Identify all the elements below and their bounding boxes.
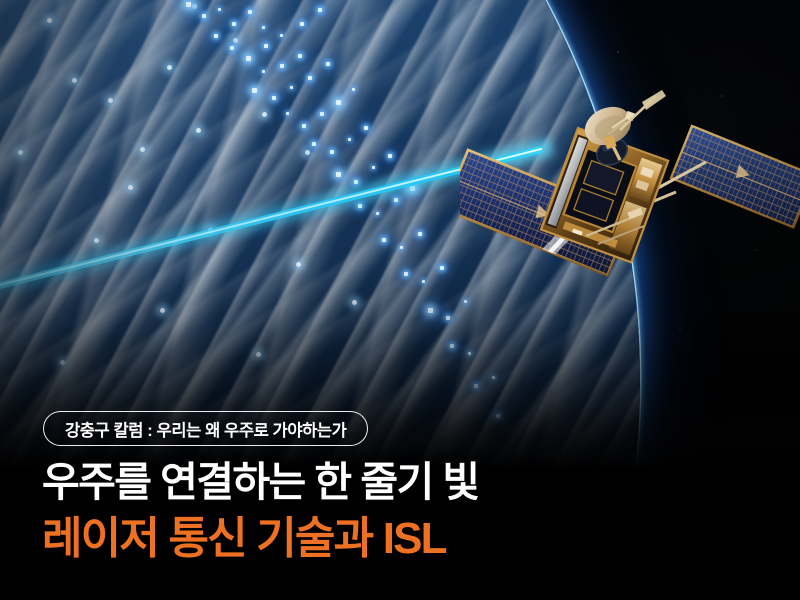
headline-primary: 우주를 연결하는 한 줄기 빛 [42, 459, 478, 507]
headline-accent: 레이저 통신 기술과 ISL [42, 513, 478, 564]
solar-panel-right [671, 126, 800, 227]
communications-satellite [460, 88, 800, 313]
column-series-badge[interactable]: 강충구 칼럼 : 우리는 왜 우주로 가야하는가 [43, 411, 368, 446]
banner-root: 강충구 칼럼 : 우리는 왜 우주로 가야하는가 우주를 연결하는 한 줄기 빛… [0, 0, 800, 600]
caption-block: 강충구 칼럼 : 우리는 왜 우주로 가야하는가 우주를 연결하는 한 줄기 빛… [42, 411, 478, 564]
